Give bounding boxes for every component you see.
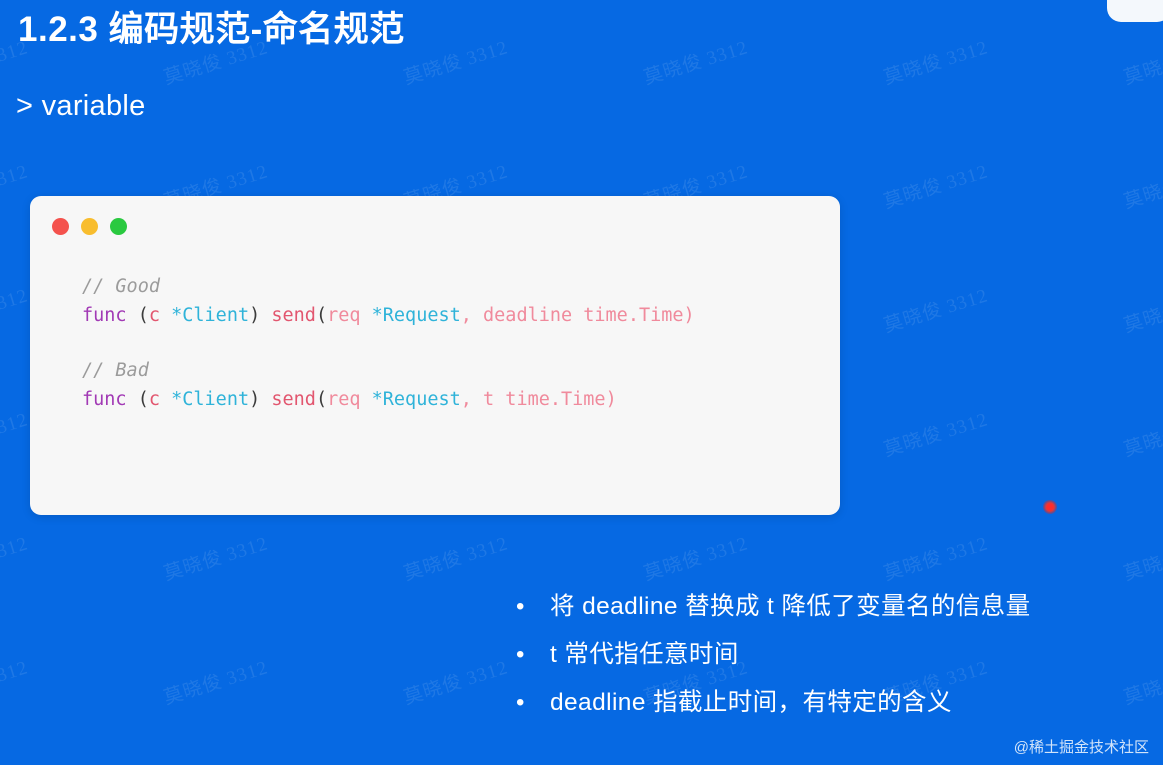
- watermark-text: 莫晓俊 3312: [880, 156, 991, 213]
- code-token: ,: [461, 389, 483, 410]
- code-token: ): [249, 389, 260, 410]
- bullet-dot-icon: •: [516, 631, 550, 679]
- code-token: deadline time.Time: [483, 305, 683, 326]
- code-token: func: [82, 389, 127, 410]
- list-item: • deadline 指截止时间，有特定的含义: [516, 679, 1030, 727]
- code-token: send: [271, 305, 316, 326]
- code-token: ,: [461, 305, 483, 326]
- code-token: (: [316, 389, 327, 410]
- code-token: send: [271, 389, 316, 410]
- watermark-text: 莫晓俊 3312: [160, 652, 271, 709]
- code-token: [160, 305, 171, 326]
- code-token: [127, 305, 138, 326]
- code-token: [127, 389, 138, 410]
- code-comment-bad-text: // Bad: [82, 360, 149, 381]
- watermark-text: 莫晓俊 3312: [160, 528, 271, 585]
- minimize-button-icon[interactable]: [81, 218, 98, 235]
- watermark-text: 莫晓俊 3312: [1120, 652, 1163, 709]
- watermark-text: 莫晓俊 3312: [0, 404, 31, 461]
- watermark-text: 莫晓俊 3312: [640, 32, 751, 89]
- code-comment-good-text: // Good: [82, 276, 160, 297]
- credit-label: @稀土掘金技术社区: [1014, 736, 1149, 757]
- close-button-icon[interactable]: [52, 218, 69, 235]
- watermark-text: 莫晓俊 3312: [1120, 156, 1163, 213]
- watermark-text: 莫晓俊 3312: [0, 156, 31, 213]
- bullet-dot-icon: •: [516, 679, 550, 727]
- watermark-text: 莫晓俊 3312: [880, 528, 991, 585]
- bullet-list: • 将 deadline 替换成 t 降低了变量名的信息量 • t 常代指任意时…: [516, 583, 1030, 727]
- code-spacer: [82, 330, 830, 356]
- list-item-label: 将 deadline 替换成 t 降低了变量名的信息量: [550, 583, 1030, 631]
- code-token: c: [149, 305, 160, 326]
- watermark-text: 莫晓俊 3312: [400, 652, 511, 709]
- code-token: *Client: [171, 305, 249, 326]
- code-card: // Good func (c *Client) send(req *Reque…: [30, 196, 840, 515]
- code-token: t time.Time: [483, 389, 606, 410]
- code-token: req: [327, 305, 360, 326]
- code-token: c: [149, 389, 160, 410]
- code-token: func: [82, 305, 127, 326]
- maximize-button-icon[interactable]: [110, 218, 127, 235]
- list-item-label: deadline 指截止时间，有特定的含义: [550, 679, 952, 727]
- watermark-text: 莫晓俊 3312: [1120, 32, 1163, 89]
- code-token: ): [606, 389, 617, 410]
- watermark-text: 莫晓俊 3312: [0, 652, 31, 709]
- list-item: • 将 deadline 替换成 t 降低了变量名的信息量: [516, 583, 1030, 631]
- code-token: *Client: [171, 389, 249, 410]
- code-line-good: func (c *Client) send(req *Request, dead…: [82, 301, 830, 330]
- watermark-text: 莫晓俊 3312: [400, 32, 511, 89]
- code-token: [260, 389, 271, 410]
- code-token: ): [249, 305, 260, 326]
- code-block: // Good func (c *Client) send(req *Reque…: [82, 272, 830, 414]
- bullet-dot-icon: •: [516, 583, 550, 631]
- code-token: req: [327, 389, 360, 410]
- watermark-text: 莫晓俊 3312: [1120, 280, 1163, 337]
- code-token: (: [138, 389, 149, 410]
- code-token: [361, 305, 372, 326]
- watermark-text: 莫晓俊 3312: [0, 280, 31, 337]
- window-controls: [52, 218, 127, 235]
- code-token: *Request: [372, 389, 461, 410]
- laser-pointer-icon: [1043, 500, 1057, 514]
- watermark-text: 莫晓俊 3312: [1120, 404, 1163, 461]
- slide-canvas: 莫晓俊 3312莫晓俊 3312莫晓俊 3312莫晓俊 3312莫晓俊 3312…: [0, 0, 1163, 765]
- code-token: [361, 389, 372, 410]
- code-token: [260, 305, 271, 326]
- code-token: [160, 389, 171, 410]
- watermark-text: 莫晓俊 3312: [1120, 528, 1163, 585]
- watermark-text: 莫晓俊 3312: [880, 32, 991, 89]
- code-line-bad: func (c *Client) send(req *Request, t ti…: [82, 385, 830, 414]
- code-token: (: [316, 305, 327, 326]
- code-comment-bad: // Bad: [82, 356, 830, 385]
- corner-nub: [1107, 0, 1163, 22]
- watermark-text: 莫晓俊 3312: [640, 528, 751, 585]
- list-item-label: t 常代指任意时间: [550, 631, 739, 679]
- code-token: *Request: [372, 305, 461, 326]
- page-title: 1.2.3 编码规范-命名规范: [18, 1, 405, 52]
- code-token: (: [138, 305, 149, 326]
- watermark-text: 莫晓俊 3312: [880, 404, 991, 461]
- watermark-text: 莫晓俊 3312: [400, 528, 511, 585]
- list-item: • t 常代指任意时间: [516, 631, 1030, 679]
- watermark-text: 莫晓俊 3312: [0, 528, 31, 585]
- code-comment-good: // Good: [82, 272, 830, 301]
- page-subtitle: > variable: [16, 90, 146, 123]
- watermark-text: 莫晓俊 3312: [880, 280, 991, 337]
- code-token: ): [684, 305, 695, 326]
